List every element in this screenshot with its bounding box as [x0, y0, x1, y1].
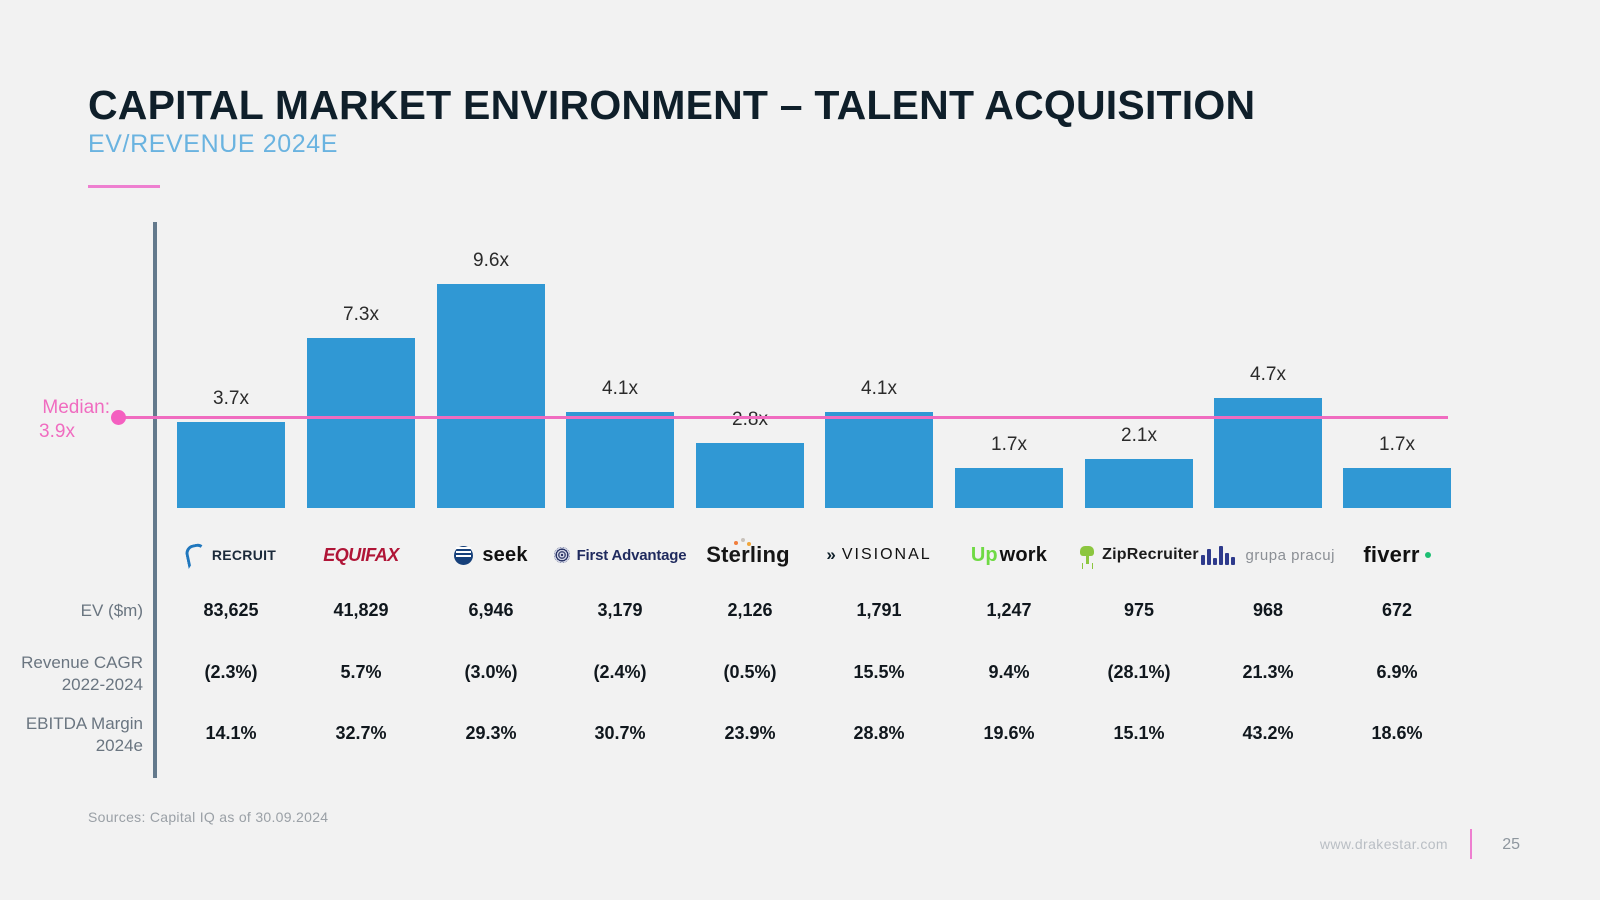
table-cell: 2,126 [675, 600, 825, 621]
median-value: 3.9x [18, 420, 110, 444]
table-cell: (2.4%) [545, 662, 695, 683]
green-chair-icon [1079, 546, 1095, 564]
bar-rect[interactable] [825, 412, 933, 508]
table-cell: 43.2% [1193, 723, 1343, 744]
recruit-arc-icon [184, 542, 209, 569]
bar-column[interactable]: 4.1x [825, 412, 933, 508]
blue-bars-icon [1201, 545, 1235, 565]
first-advantage-logo[interactable]: First Advantage [545, 533, 695, 577]
bar-value-label: 3.7x [157, 388, 305, 410]
bar-column[interactable]: 1.7x [1343, 468, 1451, 508]
table-cell: 29.3% [416, 723, 566, 744]
seek-globe-icon [454, 546, 473, 565]
table-cell: 3,179 [545, 600, 695, 621]
table-cell: (28.1%) [1064, 662, 1214, 683]
table-cell: 15.1% [1064, 723, 1214, 744]
bar-column[interactable]: 2.1x [1085, 459, 1193, 508]
y-axis-line [153, 222, 157, 778]
bar-value-label: 4.1x [805, 378, 953, 400]
table-cell: 975 [1064, 600, 1214, 621]
table-row-label-line1: Revenue CAGR [0, 652, 143, 674]
table-cell: (3.0%) [416, 662, 566, 683]
table-cell: 672 [1322, 600, 1472, 621]
bar-rect[interactable] [955, 468, 1063, 508]
bar-column[interactable]: 3.7x [177, 422, 285, 508]
sources-note: Sources: Capital IQ as of 30.09.2024 [88, 809, 328, 825]
seek-logo[interactable]: seek [416, 533, 566, 577]
table-cell: 5.7% [286, 662, 436, 683]
table-row-label-line2: 2022-2024 [0, 674, 143, 696]
fingerprint-icon [554, 547, 570, 563]
first-advantage-logo-text: First Advantage [577, 547, 687, 564]
upwork-logo[interactable]: Upwork [934, 533, 1084, 577]
bar-value-label: 1.7x [1323, 434, 1471, 456]
grupa-pracuj-logo[interactable]: grupa pracuj [1193, 533, 1343, 577]
bar-column[interactable]: 2.8x [696, 443, 804, 508]
bar-rect[interactable] [696, 443, 804, 508]
green-dot-icon [1425, 552, 1431, 558]
bar-value-label: 1.7x [935, 434, 1083, 456]
table-cell: 1,247 [934, 600, 1084, 621]
bar-column[interactable]: 4.1x [566, 412, 674, 508]
table-cell: 18.6% [1322, 723, 1472, 744]
bar-rect[interactable] [566, 412, 674, 508]
table-cell: 83,625 [156, 600, 306, 621]
bar-value-label: 2.1x [1065, 425, 1213, 447]
table-row-label-line1: EV ($m) [0, 600, 143, 622]
bar-column[interactable]: 7.3x [307, 338, 415, 508]
sterling-logo[interactable]: Sterling [675, 533, 825, 577]
table-cell: 14.1% [156, 723, 306, 744]
table-row-label: EV ($m) [0, 600, 143, 622]
table-cell: 1,791 [804, 600, 954, 621]
table-cell: 32.7% [286, 723, 436, 744]
table-cell: (2.3%) [156, 662, 306, 683]
bar-rect[interactable] [177, 422, 285, 508]
bar-value-label: 9.6x [417, 250, 565, 272]
footer-divider [1470, 829, 1472, 859]
table-row-label-line1: EBITDA Margin [0, 713, 143, 735]
median-label-text: Median: [42, 397, 110, 418]
visional-logo-text: VISIONAL [842, 546, 932, 564]
bar-value-label: 2.8x [676, 409, 824, 431]
bar-value-label: 4.7x [1194, 364, 1342, 386]
bar-column[interactable]: 4.7x [1214, 398, 1322, 508]
bar-column[interactable]: 9.6x [437, 284, 545, 508]
bar-value-label: 4.1x [546, 378, 694, 400]
median-label: Median: 3.9x [18, 396, 110, 444]
table-cell: 19.6% [934, 723, 1084, 744]
table-cell: 28.8% [804, 723, 954, 744]
table-cell: 21.3% [1193, 662, 1343, 683]
upwork-up-icon: Up [971, 544, 998, 567]
table-cell: (0.5%) [675, 662, 825, 683]
table-cell: 9.4% [934, 662, 1084, 683]
median-marker-dot [111, 410, 126, 425]
table-cell: 968 [1193, 600, 1343, 621]
table-cell: 6.9% [1322, 662, 1472, 683]
visional-logo[interactable]: »VISIONAL [804, 533, 954, 577]
fiverr-logo[interactable]: fiverr [1322, 533, 1472, 577]
bar-value-label: 7.3x [287, 304, 435, 326]
equifax-logo-text: EQUIFAX [323, 545, 399, 566]
bar-rect[interactable] [1085, 459, 1193, 508]
page-number: 25 [1502, 836, 1520, 854]
table-cell: 15.5% [804, 662, 954, 683]
table-cell: 41,829 [286, 600, 436, 621]
ziprecruiter-logo[interactable]: ZipRecruiter [1064, 533, 1214, 577]
bar-rect[interactable] [1343, 468, 1451, 508]
table-row-label-line2: 2024e [0, 735, 143, 757]
recruit-logo-text: RECRUIT [212, 547, 276, 563]
table-row-label: Revenue CAGR2022-2024 [0, 652, 143, 696]
table-cell: 30.7% [545, 723, 695, 744]
seek-logo-text: seek [482, 544, 527, 567]
bar-rect[interactable] [1214, 398, 1322, 508]
table-cell: 6,946 [416, 600, 566, 621]
double-chevron-icon: » [826, 545, 832, 565]
footer-url[interactable]: www.drakestar.com [1320, 836, 1448, 852]
equifax-logo[interactable]: EQUIFAX [286, 533, 436, 577]
bar-rect[interactable] [437, 284, 545, 508]
table-row-label: EBITDA Margin2024e [0, 713, 143, 757]
bar-rect[interactable] [307, 338, 415, 508]
ziprecruiter-logo-text: ZipRecruiter [1102, 546, 1199, 564]
table-cell: 23.9% [675, 723, 825, 744]
bar-chart: 3.7x7.3x9.6x4.1x2.8x4.1x1.7x2.1x4.7x1.7x… [0, 0, 1600, 900]
median-line [118, 416, 1448, 419]
bar-column[interactable]: 1.7x [955, 468, 1063, 508]
recruit-logo[interactable]: RECRUIT [156, 533, 306, 577]
fiverr-logo-text: fiverr [1363, 542, 1419, 568]
upwork-logo-text: work [1000, 544, 1047, 567]
